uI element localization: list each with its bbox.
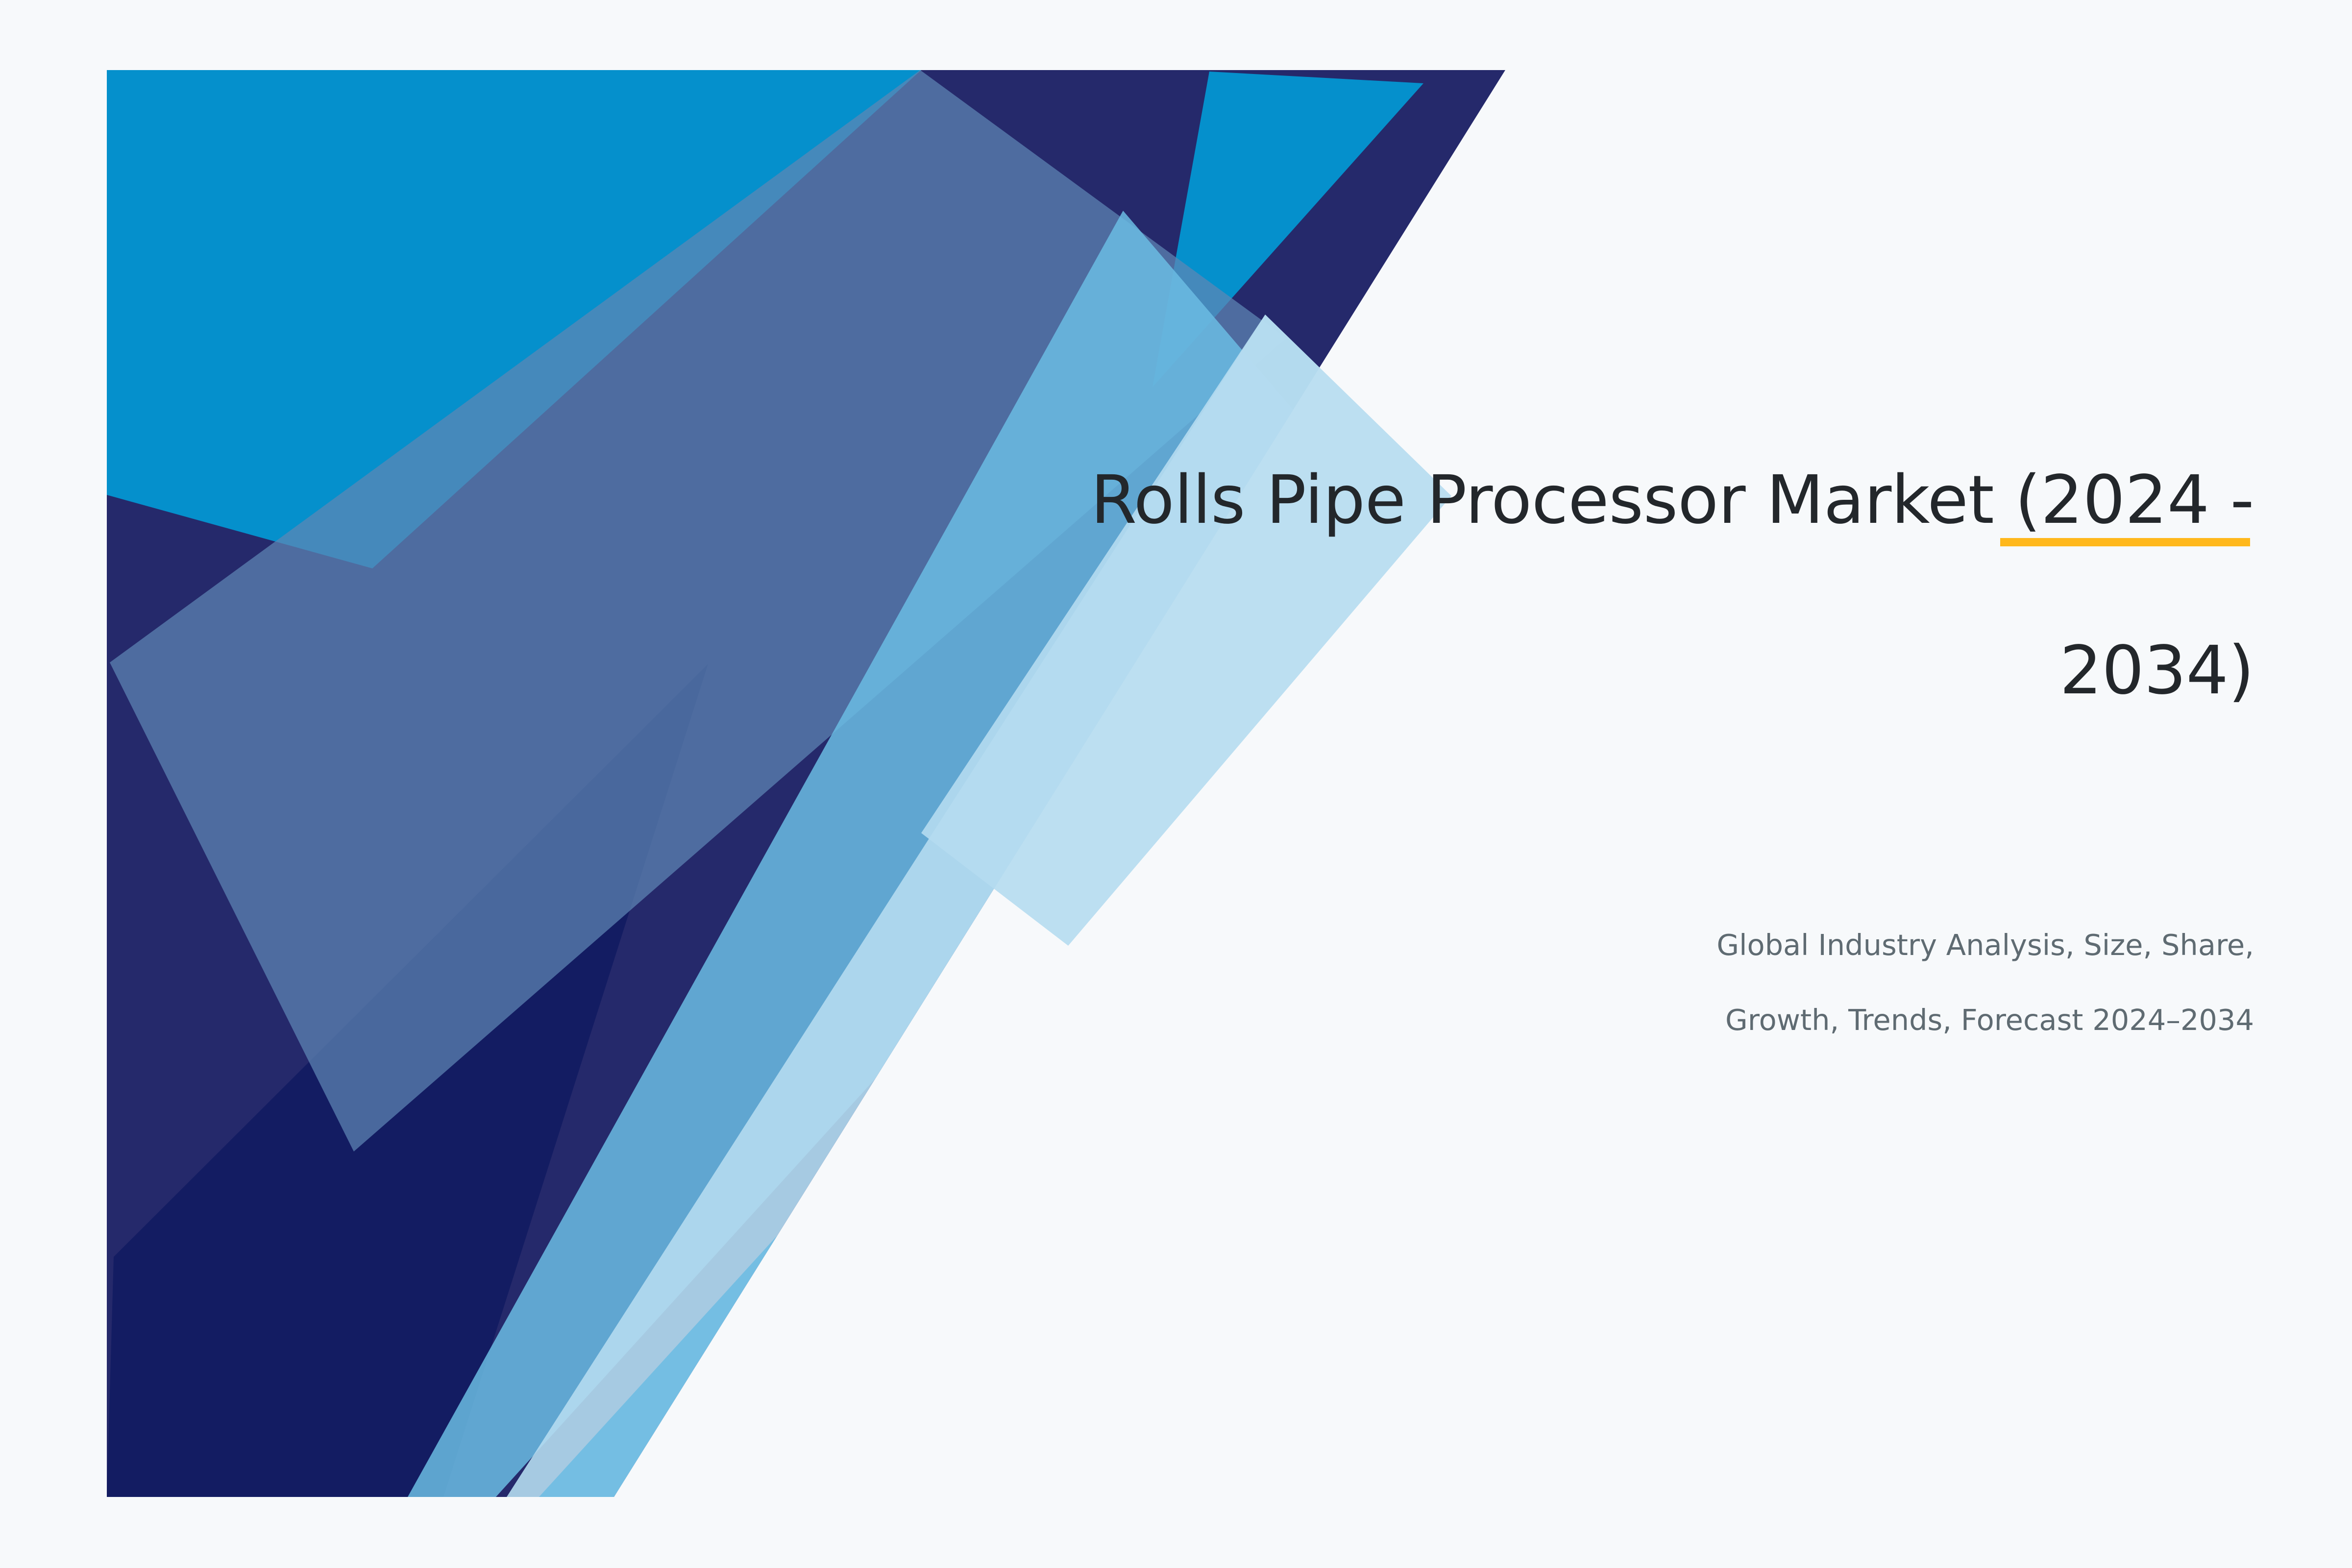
title-line-1: Rolls Pipe Processor Market (2024 - bbox=[1091, 462, 2254, 539]
cyan-spike-shape bbox=[1152, 72, 1423, 387]
title-accent-underline bbox=[2000, 538, 2250, 546]
subtitle-line-2: Growth, Trends, Forecast 2024–2034 bbox=[1725, 1003, 2254, 1037]
page-subtitle: Global Industry Analysis, Size, Share, G… bbox=[921, 889, 2254, 1039]
page-title: Rolls Pipe Processor Market (2024 - 2034… bbox=[921, 372, 2254, 799]
deep-navy-wedge-shape bbox=[107, 664, 708, 1497]
report-cover-page: Rolls Pipe Processor Market (2024 - 2034… bbox=[0, 0, 2352, 1568]
cyan-field-shape bbox=[107, 70, 921, 568]
subtitle-line-1: Global Industry Analysis, Size, Share, bbox=[1716, 928, 2254, 962]
cover-text-block: Rolls Pipe Processor Market (2024 - 2034… bbox=[921, 372, 2254, 1039]
title-line-2: 2034) bbox=[2059, 632, 2254, 710]
